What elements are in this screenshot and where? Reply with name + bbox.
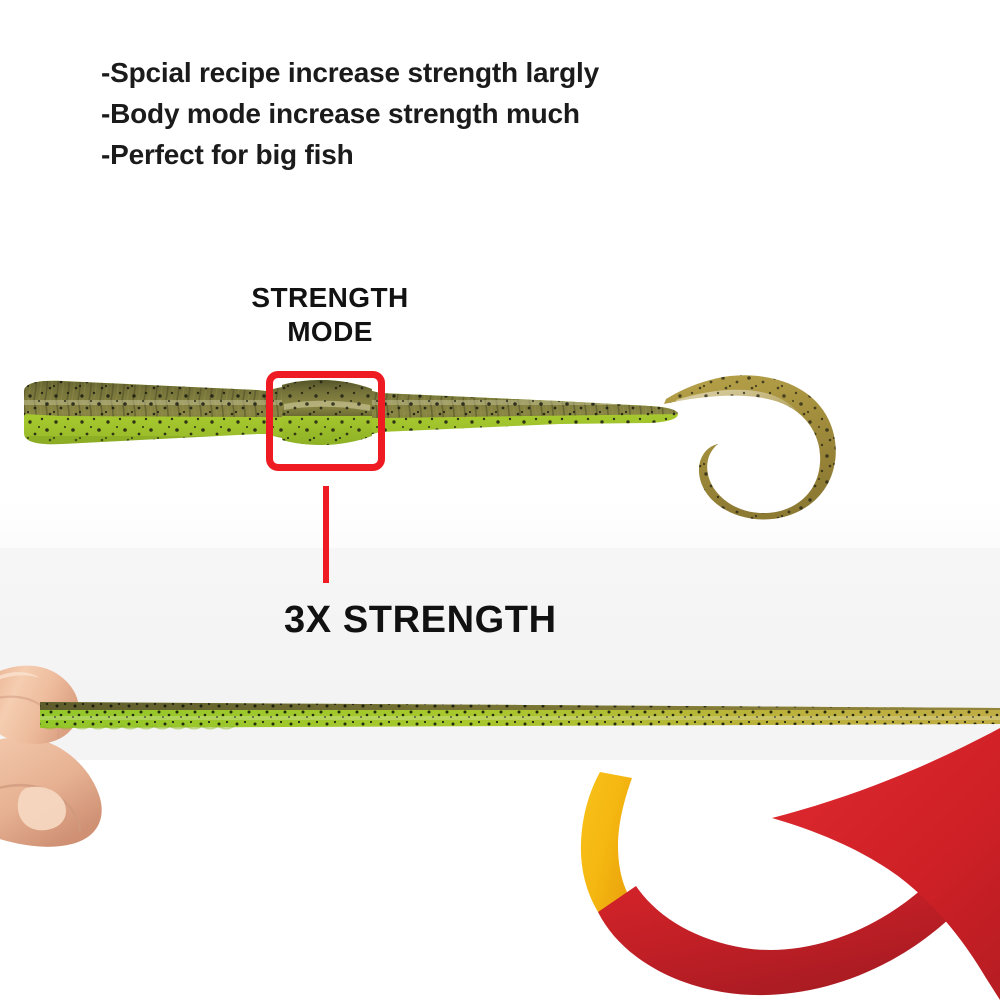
callout-leader-line (323, 486, 329, 583)
strength-mode-line-2: MODE (205, 315, 455, 349)
strength-mode-caption: STRENGTH MODE (205, 281, 455, 349)
arrow-band (598, 872, 968, 995)
feature-bullets: -Spcial recipe increase strength largly … (101, 52, 721, 175)
strength-mode-line-1: STRENGTH (205, 281, 455, 315)
bullet-3: -Perfect for big fish (101, 134, 721, 175)
three-x-strength-headline: 3X STRENGTH (284, 599, 557, 642)
product-graphic-canvas: -Spcial recipe increase strength largly … (0, 0, 1000, 1000)
strength-mode-highlight-box (266, 371, 385, 471)
bullet-2: -Body mode increase strength much (101, 93, 721, 134)
arrow-tail (581, 772, 632, 912)
bullet-1: -Spcial recipe increase strength largly (101, 52, 721, 93)
